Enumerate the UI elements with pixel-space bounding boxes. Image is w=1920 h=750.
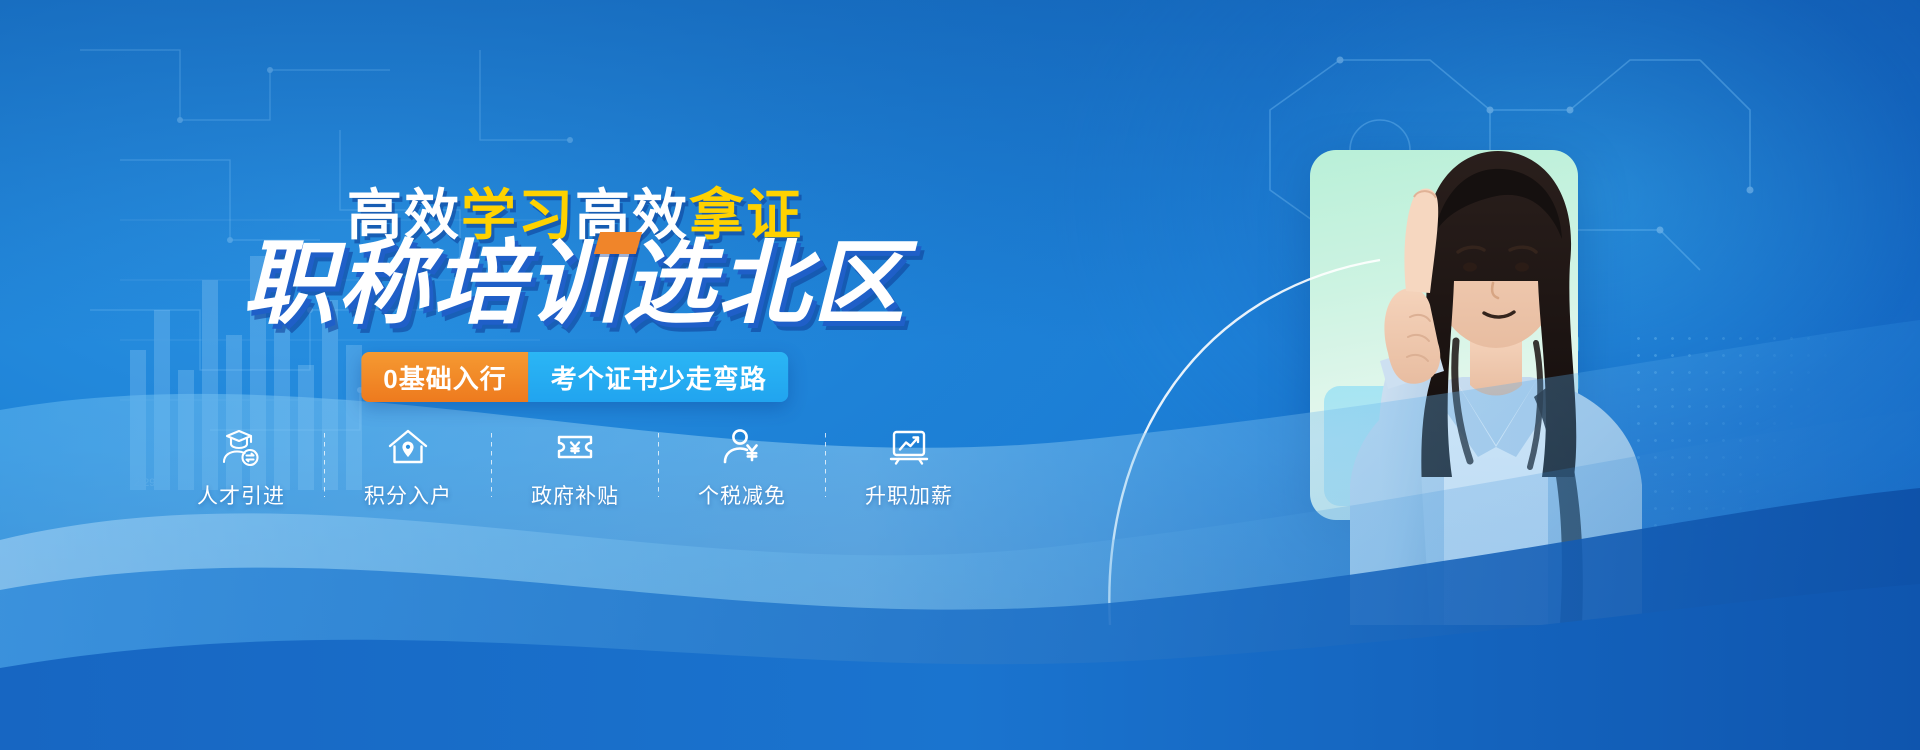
- orange-accent-mark: [594, 232, 642, 254]
- banner-content: 高效学习高效拿证 职称培训选北区 0基础入行 考个证书少走弯路: [0, 0, 1150, 750]
- feature-list: 人才引进 积分入户: [174, 425, 976, 510]
- home-pin-icon: [386, 425, 430, 469]
- headline: 职称培训选北区: [0, 238, 1150, 330]
- promo-banner: 2.29: [0, 0, 1920, 750]
- feature-divider-4: [825, 433, 826, 497]
- feature-label-promotion: 升职加薪: [865, 480, 953, 510]
- feature-divider-3: [658, 433, 659, 497]
- coupon-yuan-icon: [553, 425, 597, 469]
- headline-text: 职称培训选北区: [242, 233, 907, 335]
- feature-item-household[interactable]: 积分入户: [341, 425, 475, 510]
- badge-pill[interactable]: 0基础入行 考个证书少走弯路: [361, 352, 788, 402]
- feature-item-subsidy[interactable]: 政府补贴: [508, 425, 642, 510]
- growth-chart-icon: [887, 425, 931, 469]
- badge-right-label: 考个证书少走弯路: [529, 352, 789, 402]
- badge-left-label: 0基础入行: [361, 352, 528, 402]
- feature-divider-1: [324, 433, 325, 497]
- feature-label-tax: 个税减免: [698, 480, 786, 510]
- person-yuan-icon: [720, 425, 764, 469]
- feature-divider-2: [491, 433, 492, 497]
- feature-item-tax[interactable]: 个税减免: [675, 425, 809, 510]
- feature-label-subsidy: 政府补贴: [531, 480, 619, 510]
- feature-label-household: 积分入户: [364, 480, 452, 510]
- graduate-exchange-icon: [219, 425, 263, 469]
- feature-item-talent[interactable]: 人才引进: [174, 425, 308, 510]
- feature-label-talent: 人才引进: [197, 480, 285, 510]
- feature-item-promotion[interactable]: 升职加薪: [842, 425, 976, 510]
